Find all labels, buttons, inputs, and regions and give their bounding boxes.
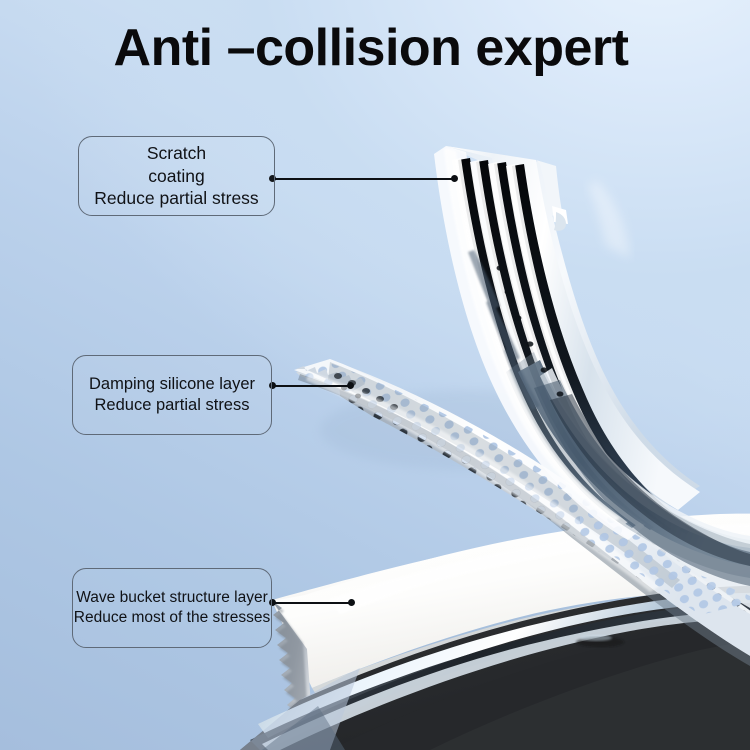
callout-line: Reduce partial stress	[95, 395, 250, 416]
callout-line: Wave bucket structure layer	[76, 588, 268, 608]
connector-line-scratch-coating	[270, 178, 457, 180]
callout-scratch-coating: Scratch coating Reduce partial stress	[78, 136, 275, 216]
product-marketing-image: Anti –collision expert Scratch coating R…	[0, 0, 750, 750]
connector-line-damping-silicone	[270, 385, 353, 387]
callout-line: Reduce partial stress	[94, 187, 258, 209]
callout-damping-silicone-layer: Damping silicone layer Reduce partial st…	[72, 355, 272, 435]
callout-line: Scratch	[147, 142, 206, 164]
connector-line-wave-bucket	[270, 602, 354, 604]
callout-line: coating	[148, 165, 204, 187]
callout-line: Damping silicone layer	[89, 374, 255, 395]
callout-line: Reduce most of the stresses	[74, 608, 270, 628]
page-title: Anti –collision expert	[0, 20, 742, 77]
callout-wave-bucket-structure-layer: Wave bucket structure layer Reduce most …	[72, 568, 272, 648]
